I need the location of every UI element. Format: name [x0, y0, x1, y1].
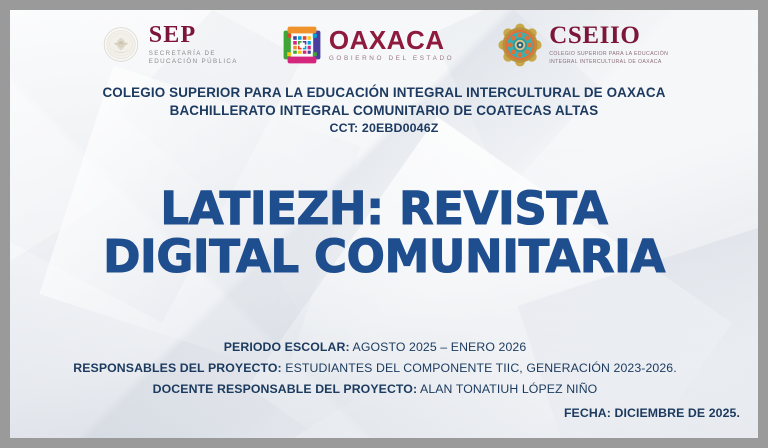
presentation-slide: SEP SECRETARÍA DE EDUCACIÓN PÚBLICA: [10, 10, 758, 438]
sep-subtitle: SECRETARÍA DE EDUCACIÓN PÚBLICA: [149, 50, 238, 67]
institution-line-1: COLEGIO SUPERIOR PARA LA EDUCACIÓN INTEG…: [10, 84, 758, 102]
oaxaca-subtitle: GOBIERNO DEL ESTADO: [329, 56, 454, 62]
docente-label: DOCENTE RESPONSABLE DEL PROYECTO:: [153, 382, 418, 396]
sep-logo: SEP SECRETARÍA DE EDUCACIÓN PÚBLICA: [100, 22, 238, 67]
periodo-escolar-label: PERIODO ESCOLAR:: [224, 340, 350, 354]
docente-row: DOCENTE RESPONSABLE DEL PROYECTO: ALAN T…: [10, 379, 740, 400]
oaxaca-wordmark: OAXACA: [329, 27, 454, 53]
institution-header: COLEGIO SUPERIOR PARA LA EDUCACIÓN INTEG…: [10, 84, 758, 137]
page-title: LATIEZH: REVISTA DIGITAL COMUNITARIA: [10, 185, 758, 280]
sep-wordmark: SEP: [149, 23, 238, 47]
cseiio-mandala-rosette-icon: [498, 23, 542, 67]
fecha-value: FECHA: DICIEMBRE DE 2025.: [10, 403, 740, 424]
responsables-row: RESPONSABLES DEL PROYECTO: ESTUDIANTES D…: [10, 358, 740, 379]
cseiio-wordmark: CSEIIO: [549, 23, 668, 48]
periodo-escolar-value: AGOSTO 2025 – ENERO 2026: [353, 340, 527, 354]
sep-subtitle-line1: SECRETARÍA DE: [149, 50, 238, 58]
docente-value: ALAN TONATIUH LÓPEZ NIÑO: [420, 382, 597, 396]
page-title-line-2: DIGITAL COMUNITARIA: [10, 233, 758, 281]
oaxaca-grecas-square-icon: [282, 24, 322, 66]
cseiio-logo: CSEIIO COLEGIO SUPERIOR PARA LA EDUCACIÓ…: [498, 23, 668, 67]
oaxaca-logo: OAXACA GOBIERNO DEL ESTADO: [282, 24, 454, 66]
responsables-value: ESTUDIANTES DEL COMPONENTE TIIC, GENERAC…: [285, 361, 676, 375]
institution-line-2: BACHILLERATO INTEGRAL COMUNITARIO DE COA…: [10, 102, 758, 120]
responsables-label: RESPONSABLES DEL PROYECTO:: [73, 361, 282, 375]
footer-metadata: PERIODO ESCOLAR: AGOSTO 2025 – ENERO 202…: [10, 337, 740, 425]
page-title-line-1: LATIEZH: REVISTA: [10, 185, 758, 233]
cct-code: CCT: 20EBD0046Z: [10, 120, 758, 137]
mexican-coat-of-arms-seal-icon: [100, 22, 142, 67]
sep-subtitle-line2: EDUCACIÓN PÚBLICA: [149, 58, 238, 66]
cseiio-subtitle-line2: INTEGRAL INTERCULTURAL DE OAXACA: [549, 59, 668, 66]
periodo-escolar-row: PERIODO ESCOLAR: AGOSTO 2025 – ENERO 202…: [10, 337, 740, 358]
logo-strip: SEP SECRETARÍA DE EDUCACIÓN PÚBLICA: [10, 22, 758, 67]
cseiio-subtitle-line1: COLEGIO SUPERIOR PARA LA EDUCACIÓN: [549, 51, 668, 58]
cseiio-subtitle: COLEGIO SUPERIOR PARA LA EDUCACIÓN INTEG…: [549, 51, 668, 66]
